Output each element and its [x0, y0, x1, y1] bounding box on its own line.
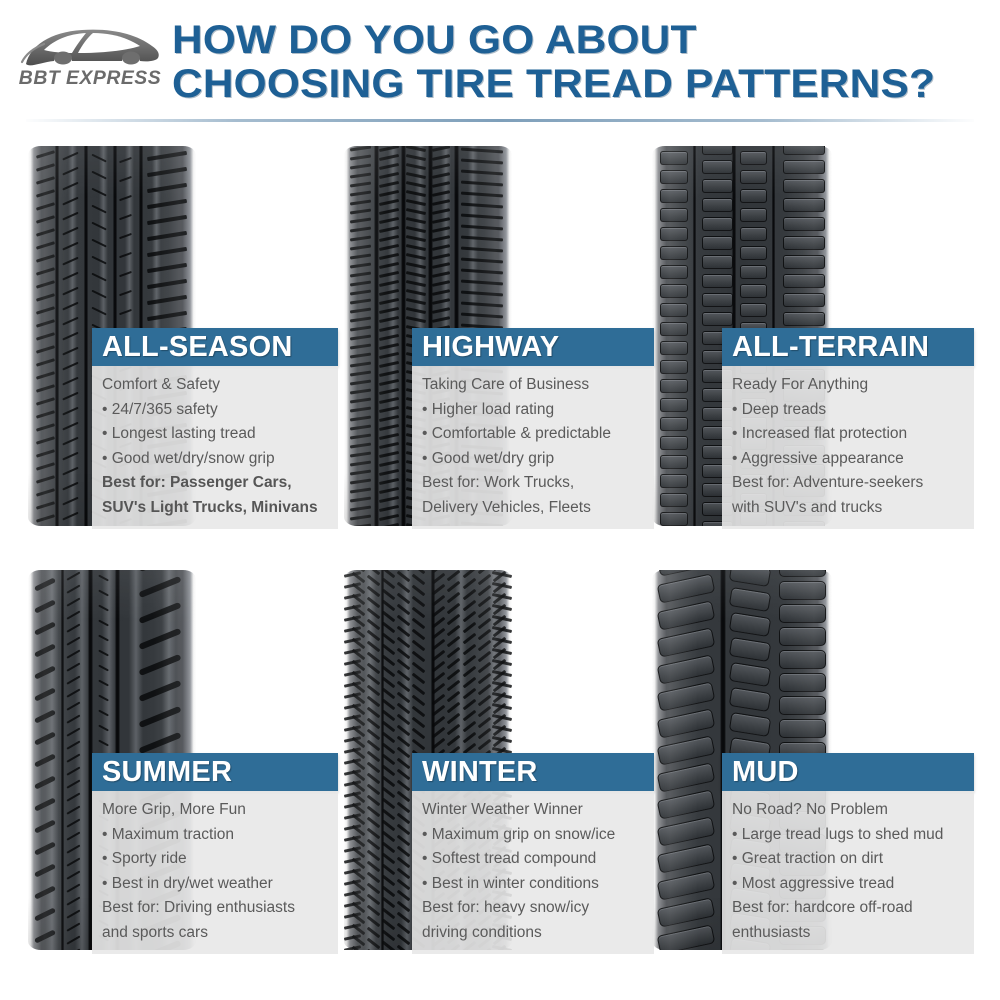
card-bullet: • Softest tread compound [422, 847, 644, 872]
card-bullet: • Longest lasting tread [102, 422, 328, 447]
card-title-banner: ALL-TERRAIN [722, 328, 974, 366]
card-tagline: Comfort & Safety [102, 373, 328, 398]
card-body: Taking Care of Business• Higher load rat… [412, 366, 654, 529]
tire-type-card: HIGHWAYTaking Care of Business• Higher l… [412, 328, 654, 529]
card-best-for-line-2: Delivery Vehicles, Fleets [422, 496, 644, 521]
tire-type-card: MUDNo Road? No Problem• Large tread lugs… [722, 753, 974, 954]
brand-logo: BBT EXPRESS [14, 24, 166, 96]
tire-type-card: ALL-SEASONComfort & Safety• 24/7/365 saf… [92, 328, 338, 529]
card-title-banner: WINTER [412, 753, 654, 791]
card-bullet: • Deep treads [732, 398, 964, 423]
card-best-for-line-1: Best for: heavy snow/icy [422, 896, 644, 921]
card-bullet: • Maximum grip on snow/ice [422, 823, 644, 848]
card-best-for-line-2: and sports cars [102, 921, 328, 946]
card-tagline: No Road? No Problem [732, 798, 964, 823]
header: BBT EXPRESS HOW DO YOU GO ABOUT CHOOSING… [0, 0, 1000, 120]
header-divider [26, 119, 974, 122]
page-title-line-1: HOW DO YOU GO ABOUT [172, 18, 1000, 62]
card-bullet: • Good wet/dry grip [422, 447, 644, 472]
card-body: More Grip, More Fun• Maximum traction• S… [92, 791, 338, 954]
card-title-banner: SUMMER [92, 753, 338, 791]
card-bullet: • Increased flat protection [732, 422, 964, 447]
card-body: No Road? No Problem• Large tread lugs to… [722, 791, 974, 954]
card-best-for-line-1: Best for: Passenger Cars, [102, 471, 328, 496]
card-best-for-line-2: with SUV's and trucks [732, 496, 964, 521]
card-best-for-line-2: driving conditions [422, 921, 644, 946]
card-best-for-line-2: SUV's Light Trucks, Minivans [102, 496, 328, 521]
page-title: HOW DO YOU GO ABOUT CHOOSING TIRE TREAD … [172, 18, 992, 106]
card-body: Ready For Anything• Deep treads• Increas… [722, 366, 974, 529]
card-tagline: Taking Care of Business [422, 373, 644, 398]
page-title-line-2: CHOOSING TIRE TREAD PATTERNS? [172, 62, 1000, 106]
tire-type-card: WINTERWinter Weather Winner• Maximum gri… [412, 753, 654, 954]
card-bullet: • Great traction on dirt [732, 847, 964, 872]
card-bullet: • Comfortable & predictable [422, 422, 644, 447]
card-best-for-line-1: Best for: Driving enthusiasts [102, 896, 328, 921]
card-title-banner: ALL-SEASON [92, 328, 338, 366]
card-bullet: • Sporty ride [102, 847, 328, 872]
card-best-for-line-1: Best for: hardcore off-road [732, 896, 964, 921]
card-bullet: • Most aggressive tread [732, 872, 964, 897]
card-title-banner: HIGHWAY [412, 328, 654, 366]
tire-type-card: ALL-TERRAINReady For Anything• Deep trea… [722, 328, 974, 529]
card-bullet: • 24/7/365 safety [102, 398, 328, 423]
card-tagline: Winter Weather Winner [422, 798, 644, 823]
car-silhouette-icon [20, 24, 164, 70]
card-best-for-line-1: Best for: Adventure-seekers [732, 471, 964, 496]
card-bullet: • Best in dry/wet weather [102, 872, 328, 897]
card-bullet: • Aggressive appearance [732, 447, 964, 472]
card-tagline: More Grip, More Fun [102, 798, 328, 823]
brand-logo-text: BBT EXPRESS [12, 68, 167, 90]
card-best-for-line-1: Best for: Work Trucks, [422, 471, 644, 496]
card-bullet: • Large tread lugs to shed mud [732, 823, 964, 848]
card-bullet: • Best in winter conditions [422, 872, 644, 897]
card-bullet: • Maximum traction [102, 823, 328, 848]
card-best-for-line-2: enthusiasts [732, 921, 964, 946]
infographic-page: BBT EXPRESS HOW DO YOU GO ABOUT CHOOSING… [0, 0, 1000, 1000]
card-bullet: • Good wet/dry/snow grip [102, 447, 328, 472]
card-body: Winter Weather Winner• Maximum grip on s… [412, 791, 654, 954]
card-bullet: • Higher load rating [422, 398, 644, 423]
card-body: Comfort & Safety• 24/7/365 safety• Longe… [92, 366, 338, 529]
card-tagline: Ready For Anything [732, 373, 964, 398]
tire-type-card: SUMMERMore Grip, More Fun• Maximum tract… [92, 753, 338, 954]
card-title-banner: MUD [722, 753, 974, 791]
